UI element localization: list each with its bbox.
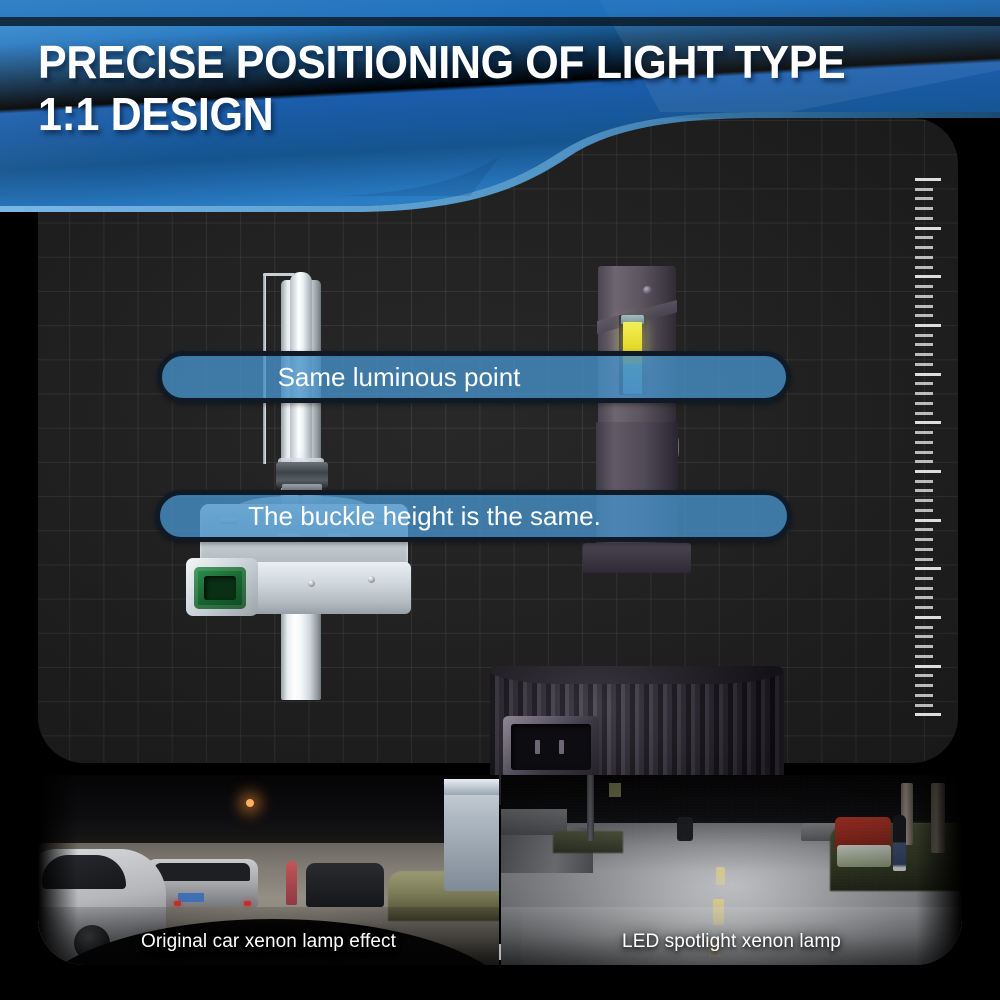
edge-shadow xyxy=(916,775,962,965)
vertical-ruler xyxy=(915,178,945,723)
page-title: PRECISE POSITIONING OF LIGHT TYPE 1:1 DE… xyxy=(38,36,898,141)
parked-dark-car xyxy=(306,863,384,907)
ruler-tick-minor xyxy=(915,295,933,298)
ruler-tick-minor xyxy=(915,480,933,483)
ruler-tick-major xyxy=(915,616,941,619)
callout-label: Same luminous point xyxy=(278,362,521,393)
bulb-screw xyxy=(308,580,315,587)
street-lamp xyxy=(246,799,254,807)
ruler-tick-minor xyxy=(915,207,933,210)
ruler-tick-minor xyxy=(915,509,933,512)
ruler-tick-major xyxy=(915,421,941,424)
ruler-tick-minor xyxy=(915,587,933,590)
ruler-tick-minor xyxy=(915,402,933,405)
bulb-connector-socket xyxy=(204,576,236,600)
callout-same-luminous-point[interactable]: Same luminous point xyxy=(157,351,791,403)
callout-label: The buckle height is the same. xyxy=(248,501,601,532)
ruler-tick-minor xyxy=(915,499,933,502)
edge-shadow xyxy=(38,775,78,965)
bulb-screw xyxy=(368,576,375,583)
ruler-tick-minor xyxy=(915,217,933,220)
ruler-tick-minor xyxy=(915,334,933,337)
ruler-tick-minor xyxy=(915,451,933,454)
led-screw xyxy=(643,286,652,295)
night-sky xyxy=(38,775,499,845)
ruler-tick-minor xyxy=(915,538,933,541)
ruler-tick-major xyxy=(915,227,941,230)
ruler-tick-minor xyxy=(915,674,933,677)
title-line-2: 1:1 DESIGN xyxy=(38,88,898,140)
suv-window xyxy=(154,863,250,881)
ruler-tick-minor xyxy=(915,305,933,308)
ruler-tick-minor xyxy=(915,314,933,317)
billboard-header xyxy=(444,779,499,795)
ruler-tick-minor xyxy=(915,596,933,599)
bulb-wire-bridge xyxy=(263,273,295,276)
ruler-tick-minor xyxy=(915,412,933,415)
led-connector-socket xyxy=(511,724,591,770)
ruler-tick-major xyxy=(915,373,941,376)
ruler-tick-minor xyxy=(915,392,933,395)
ruler-tick-minor xyxy=(915,382,933,385)
ruler-tick-minor xyxy=(915,548,933,551)
callout-buckle-height[interactable]: The buckle height is the same. xyxy=(155,490,792,542)
ruler-tick-minor xyxy=(915,655,933,658)
led-spotlight-photo[interactable]: LED spotlight xenon lamp xyxy=(501,775,962,965)
ruler-tick-minor xyxy=(915,694,933,697)
ruler-tick-minor xyxy=(915,558,933,561)
original-xenon-photo[interactable]: Original car xenon lamp effect xyxy=(38,775,499,965)
header-banner: PRECISE POSITIONING OF LIGHT TYPE 1:1 DE… xyxy=(0,0,1000,232)
ruler-tick-major xyxy=(915,519,941,522)
ruler-tick-major xyxy=(915,567,941,570)
photo-caption: LED spotlight xenon lamp xyxy=(501,931,962,953)
ruler-tick-minor xyxy=(915,256,933,259)
infographic-root: Same luminous point The buckle height is… xyxy=(0,0,1000,1000)
ruler-tick-minor xyxy=(915,266,933,269)
ruler-tick-major xyxy=(915,665,941,668)
ruler-tick-minor xyxy=(915,188,933,191)
hid-xenon-bulb xyxy=(178,262,428,664)
led-connector-pin xyxy=(559,740,564,754)
ruler-tick-minor xyxy=(915,704,933,707)
ruler-tick-minor xyxy=(915,343,933,346)
ruler-tick-minor xyxy=(915,645,933,648)
ruler-tick-major xyxy=(915,713,941,716)
title-line-1: PRECISE POSITIONING OF LIGHT TYPE xyxy=(38,36,845,88)
ruler-tick-minor xyxy=(915,684,933,687)
ruler-tick-minor xyxy=(915,197,933,200)
ruler-tick-minor xyxy=(915,441,933,444)
night-photo-comparison: Original car xenon lamp effect xyxy=(38,775,962,965)
led-connector-pin xyxy=(535,740,540,754)
led-shaft-collar xyxy=(583,543,691,573)
ruler-tick-major xyxy=(915,275,941,278)
pedestrian xyxy=(286,861,297,905)
ruler-tick-minor xyxy=(915,577,933,580)
tail-light xyxy=(174,901,181,906)
ruler-tick-minor xyxy=(915,246,933,249)
ruler-tick-minor xyxy=(915,353,933,356)
ruler-tick-major xyxy=(915,324,941,327)
photo-caption: Original car xenon lamp effect xyxy=(38,931,499,953)
ruler-tick-minor xyxy=(915,606,933,609)
suv-license-plate xyxy=(178,893,204,902)
ruler-tick-minor xyxy=(915,285,933,288)
ruler-tick-minor xyxy=(915,626,933,629)
led-xenon-bulb xyxy=(487,260,787,670)
ruler-tick-minor xyxy=(915,363,933,366)
ruler-tick-minor xyxy=(915,528,933,531)
ruler-tick-major xyxy=(915,178,941,181)
ruler-tick-major xyxy=(915,470,941,473)
ruler-tick-minor xyxy=(915,431,933,434)
ruler-tick-minor xyxy=(915,635,933,638)
tail-light xyxy=(244,901,251,906)
ruler-tick-minor xyxy=(915,236,933,239)
ruler-tick-minor xyxy=(915,460,933,463)
roadside-billboard xyxy=(444,779,499,891)
ruler-tick-minor xyxy=(915,489,933,492)
